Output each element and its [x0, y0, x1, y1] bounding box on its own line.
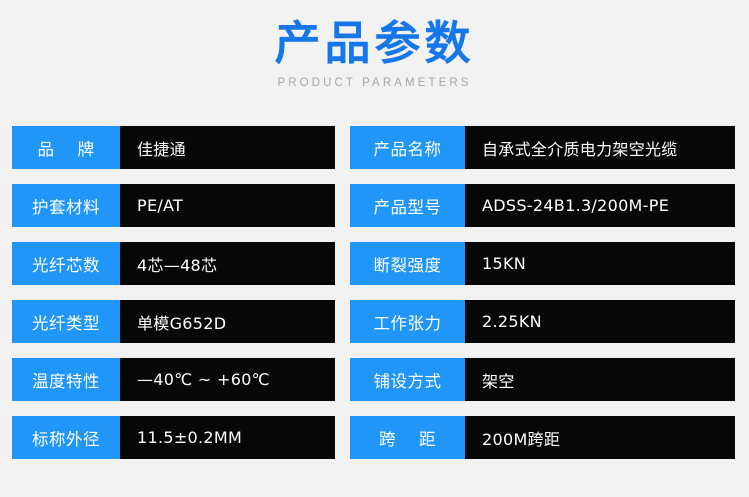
page-subtitle: PRODUCT PARAMETERS	[0, 77, 749, 89]
parameter-label: 工作张力	[350, 300, 465, 343]
parameter-label: 标称外径	[12, 416, 120, 459]
parameter-cell-product-name: 产品名称 自承式全介质电力架空光缆	[350, 126, 735, 169]
parameter-value: 11.5±0.2MM	[120, 416, 335, 459]
parameter-cell-sheath-material: 护套材料 PE/AT	[12, 184, 335, 227]
table-row: 标称外径 11.5±0.2MM 跨 距 200M跨距	[0, 416, 749, 459]
parameter-cell-span: 跨 距 200M跨距	[350, 416, 735, 459]
parameter-cell-fiber-type: 光纤类型 单模G652D	[12, 300, 335, 343]
parameter-value: 单模G652D	[120, 300, 335, 343]
table-row: 温度特性 —40℃ ~ +60℃ 铺设方式 架空	[0, 358, 749, 401]
parameter-cell-fiber-count: 光纤芯数 4芯—48芯	[12, 242, 335, 285]
parameter-value: 佳捷通	[120, 126, 335, 169]
parameter-label: 产品名称	[350, 126, 465, 169]
table-row: 护套材料 PE/AT 产品型号 ADSS-24B1.3/200M-PE	[0, 184, 749, 227]
parameter-label: 断裂强度	[350, 242, 465, 285]
parameter-value: PE/AT	[120, 184, 335, 227]
parameters-table: 品 牌 佳捷通 产品名称 自承式全介质电力架空光缆 护套材料 PE/AT 产品型…	[0, 126, 749, 459]
parameter-cell-nominal-diameter: 标称外径 11.5±0.2MM	[12, 416, 335, 459]
parameter-value: ADSS-24B1.3/200M-PE	[465, 184, 735, 227]
table-row: 光纤芯数 4芯—48芯 断裂强度 15KN	[0, 242, 749, 285]
parameter-cell-temperature-range: 温度特性 —40℃ ~ +60℃	[12, 358, 335, 401]
parameter-value: 4芯—48芯	[120, 242, 335, 285]
product-parameters-page: 产品参数 PRODUCT PARAMETERS 品 牌 佳捷通 产品名称 自承式…	[0, 0, 749, 497]
parameter-value: 2.25KN	[465, 300, 735, 343]
parameter-label: 产品型号	[350, 184, 465, 227]
parameter-label: 光纤芯数	[12, 242, 120, 285]
page-title: 产品参数	[0, 16, 749, 70]
parameter-label: 护套材料	[12, 184, 120, 227]
parameter-cell-product-model: 产品型号 ADSS-24B1.3/200M-PE	[350, 184, 735, 227]
parameter-value: 架空	[465, 358, 735, 401]
parameter-cell-laying-method: 铺设方式 架空	[350, 358, 735, 401]
parameter-label: 光纤类型	[12, 300, 120, 343]
parameter-value: 200M跨距	[465, 416, 735, 459]
parameter-cell-breaking-strength: 断裂强度 15KN	[350, 242, 735, 285]
parameter-label: 跨 距	[350, 416, 465, 459]
page-header: 产品参数 PRODUCT PARAMETERS	[0, 0, 749, 89]
parameter-cell-brand: 品 牌 佳捷通	[12, 126, 335, 169]
parameter-label: 品 牌	[12, 126, 120, 169]
parameter-value: —40℃ ~ +60℃	[120, 358, 335, 401]
parameter-value: 自承式全介质电力架空光缆	[465, 126, 735, 169]
table-row: 光纤类型 单模G652D 工作张力 2.25KN	[0, 300, 749, 343]
parameter-label: 铺设方式	[350, 358, 465, 401]
table-row: 品 牌 佳捷通 产品名称 自承式全介质电力架空光缆	[0, 126, 749, 169]
parameter-label: 温度特性	[12, 358, 120, 401]
parameter-value: 15KN	[465, 242, 735, 285]
parameter-cell-working-tension: 工作张力 2.25KN	[350, 300, 735, 343]
